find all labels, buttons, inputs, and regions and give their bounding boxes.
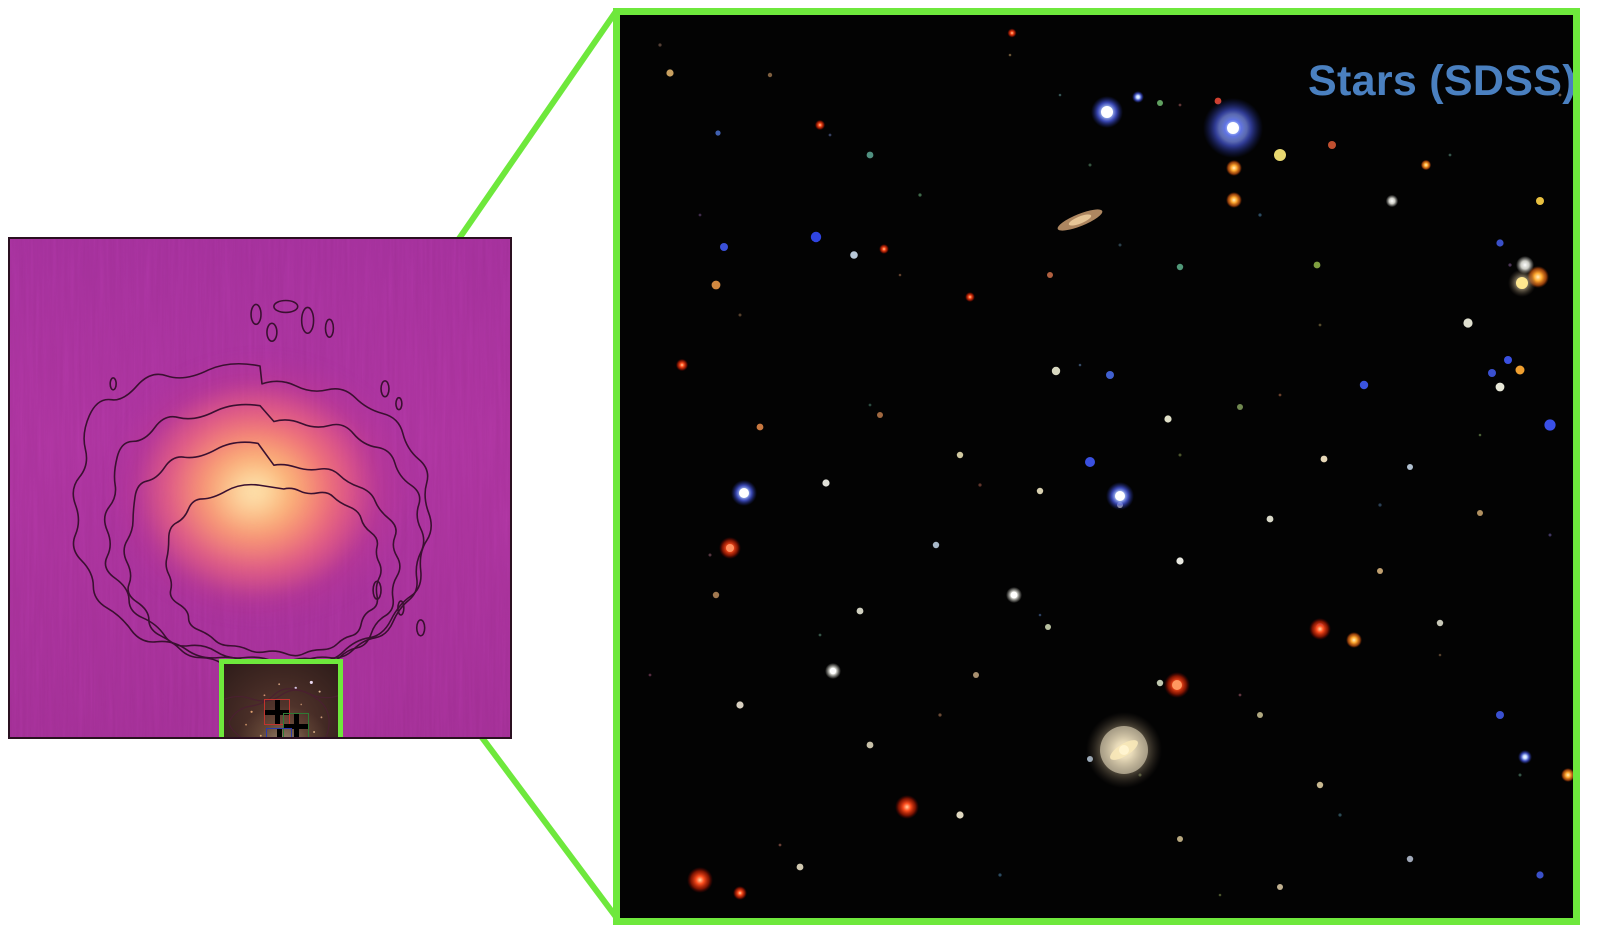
sdss-optical-panel[interactable]: Stars (SDSS) bbox=[613, 8, 1580, 925]
hi-artefact-blob-4 bbox=[325, 319, 333, 337]
figure-stage: HI 21cm (WSRT) bbox=[0, 0, 1600, 944]
sdss-star-field bbox=[620, 15, 1573, 918]
hi-21cm-panel[interactable]: HI 21cm (WSRT) bbox=[8, 237, 512, 739]
marker-cross-red-vertical bbox=[275, 700, 280, 724]
hi-artefact-blob-2 bbox=[274, 301, 298, 313]
marker-cross-green-vertical bbox=[294, 714, 299, 738]
sdss-panel-label: Stars (SDSS) bbox=[1308, 57, 1577, 106]
hi-artefact-blob-6 bbox=[381, 381, 389, 397]
marker-cross-blue-horizontal bbox=[267, 739, 291, 740]
hi-artefact-blob-5 bbox=[267, 323, 277, 341]
marker-cross-blue-vertical bbox=[277, 729, 282, 739]
hi-artefact-blob-10 bbox=[417, 620, 425, 636]
optical-zoom-inset[interactable] bbox=[219, 659, 343, 739]
hi-contour-level-4 bbox=[166, 485, 381, 656]
hi-artefact-blob-3 bbox=[302, 307, 314, 333]
hi-artefact-blob-7 bbox=[396, 398, 402, 410]
hi-artefact-blob-1 bbox=[251, 304, 261, 324]
hi-artefact-blob-11 bbox=[110, 378, 116, 390]
marker-group bbox=[224, 664, 343, 739]
